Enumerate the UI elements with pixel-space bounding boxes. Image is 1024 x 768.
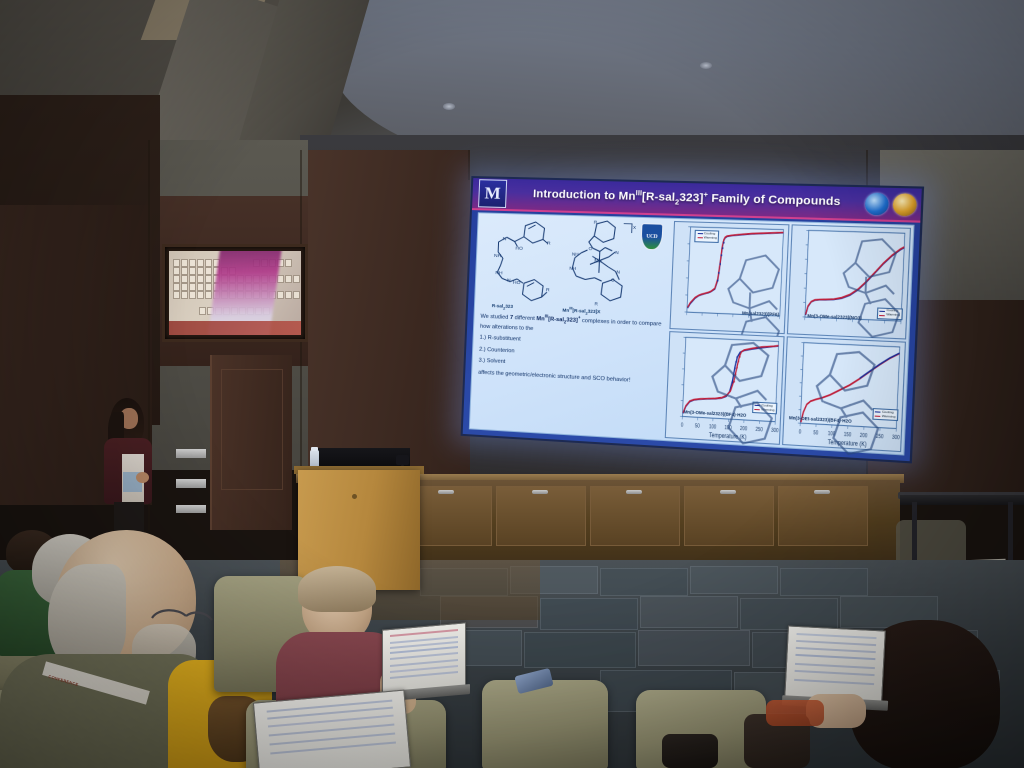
svg-text:O: O	[611, 277, 615, 282]
chart-panel-2: Cooling Warming Mn(3-OMe-sal2323)(NO3)	[787, 224, 911, 339]
svg-text:O: O	[588, 246, 592, 251]
laptop-screen	[784, 625, 886, 704]
poster-artwork	[169, 251, 301, 335]
wall-sign-plate	[176, 479, 206, 488]
svg-text:NH: NH	[569, 266, 576, 271]
periodic-table-poster	[162, 244, 308, 342]
slide-body: N HO NH NH HO N R R R-sal2323	[469, 212, 915, 455]
wall-sign-plate	[176, 449, 206, 458]
chart-panel-3: Temperature (K) 050100 150200250 300 Coo…	[665, 331, 785, 445]
cabinet-handle[interactable]	[814, 490, 830, 494]
svg-text:N: N	[616, 269, 620, 274]
wall-sign-plate	[176, 505, 206, 513]
chart-panel-1: Cooling Warming Mn(sal2323)(PF6)	[669, 221, 789, 334]
side-table	[900, 495, 1024, 505]
svg-text:N: N	[503, 236, 507, 242]
ucd-logo-icon: UCD	[640, 223, 663, 250]
svg-text:NH: NH	[572, 252, 579, 257]
wall-seam	[468, 150, 470, 180]
m-logo-letter: M	[484, 183, 501, 203]
person-leg	[662, 734, 718, 768]
mn-complex-structure-diagram: Mn O NH NH N N O R R X	[556, 219, 646, 312]
laptop-screen	[253, 690, 411, 768]
cabinet-handle[interactable]	[532, 490, 548, 494]
svg-text:N: N	[615, 250, 619, 255]
cabinet-handle[interactable]	[720, 490, 736, 494]
chart-2-inset-structure	[811, 235, 924, 348]
presenter	[96, 398, 166, 538]
person-shoe	[766, 700, 824, 726]
m-logo-icon: M	[478, 179, 507, 208]
ligand-structure-diagram: N HO NH NH HO N R R	[482, 218, 556, 307]
side-door[interactable]	[210, 355, 292, 530]
chart-4-inset-structure	[787, 346, 909, 460]
svg-text:R: R	[594, 301, 598, 306]
seat[interactable]	[482, 680, 608, 768]
water-bottle-cap	[311, 447, 318, 451]
svg-text:NH: NH	[495, 270, 503, 276]
cabinet-door[interactable]	[684, 486, 774, 546]
svg-text:R: R	[546, 287, 550, 293]
cabinet-door[interactable]	[778, 486, 868, 546]
recessed-light-icon	[700, 62, 712, 69]
slide-left-column: N HO NH NH HO N R R R-sal2323	[470, 213, 672, 440]
cabinet-handle[interactable]	[438, 490, 454, 494]
cabinet-door[interactable]	[590, 486, 680, 546]
projection-screen: M Introduction to MnIII[R-sal2323]+ Fami…	[461, 176, 925, 463]
presenter-hand	[136, 472, 149, 483]
svg-text:NH: NH	[494, 253, 502, 259]
ucd-logo-text: UCD	[646, 233, 657, 240]
ligand-caption: R-sal2323	[492, 303, 513, 311]
chemical-structures: N HO NH NH HO N R R R-sal2323	[480, 216, 668, 318]
cabinet-handle[interactable]	[626, 490, 642, 494]
seal-blue-logo-icon	[865, 192, 889, 215]
svg-text:Mn: Mn	[594, 258, 602, 264]
seal-gold-logo-icon	[893, 193, 918, 216]
slide-chart-grid: Cooling Warming Mn(sal2323)(PF6)	[663, 219, 914, 455]
lectern-knob	[352, 494, 357, 499]
mn-complex-caption: MnIII[R-sal2323]X	[562, 306, 600, 316]
chart-1-legend: Cooling Warming	[694, 230, 719, 243]
recessed-light-icon	[443, 103, 455, 110]
svg-text:X: X	[633, 225, 636, 230]
person-hair	[298, 566, 376, 612]
back-wall-wood-panel	[300, 150, 470, 490]
door-panel	[221, 369, 283, 490]
lecture-hall-photo: M Introduction to MnIII[R-sal2323]+ Fami…	[0, 0, 1024, 768]
chart-panel-4: Temperature (K) 050100 150200250 300 Coo…	[782, 336, 906, 452]
cabinet-door[interactable]	[496, 486, 586, 546]
eyeglasses-icon	[148, 604, 216, 638]
svg-text:HO: HO	[513, 280, 521, 286]
presentation-slide: M Introduction to MnIII[R-sal2323]+ Fami…	[463, 178, 922, 461]
slide-body-text: We studied 7 different MnIII[R-sal2323]+…	[477, 311, 664, 387]
svg-text:N: N	[507, 278, 511, 284]
poster-bottom-band	[169, 321, 301, 335]
slide-title: Introduction to MnIII[R-sal2323]+ Family…	[506, 186, 865, 211]
svg-text:R: R	[547, 241, 551, 247]
svg-text:HO: HO	[515, 246, 523, 252]
